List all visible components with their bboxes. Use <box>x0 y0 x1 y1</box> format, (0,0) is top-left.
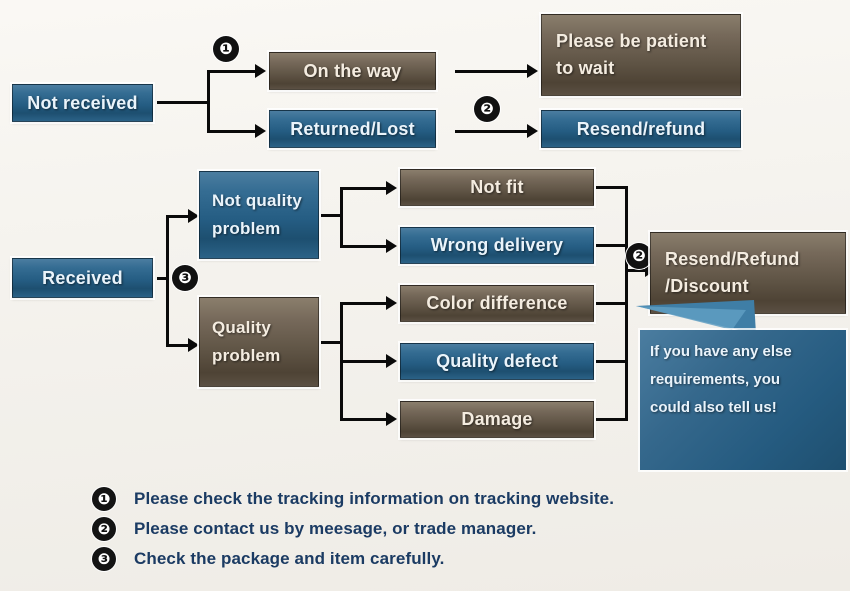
speech-bubble-note: If you have any else requirements, you c… <box>640 330 846 470</box>
connector-to-quality-defect <box>340 360 388 363</box>
node-not-quality-problem: Not quality problem <box>199 171 319 259</box>
arrowhead-resend <box>527 124 538 138</box>
connector-not-quality-split <box>340 187 343 248</box>
legend-number-3: ❸ <box>92 547 116 571</box>
speech-bubble-line1: If you have any else <box>650 338 838 366</box>
connector-returned-to-resend <box>455 130 530 133</box>
node-resend-refund-discount-line2: /Discount <box>665 277 749 296</box>
arrowhead-wrong-delivery <box>386 239 397 253</box>
connector-to-not-fit <box>340 187 388 190</box>
legend-text-3: Check the package and item carefully. <box>134 549 444 569</box>
flowchart-canvas: Not received ❶ On the way Returned/Lost … <box>0 0 850 591</box>
marker-2-top: ❷ <box>474 96 500 122</box>
merge-stub-quality-defect <box>596 360 628 363</box>
connector-to-damage <box>340 418 388 421</box>
node-not-received: Not received <box>12 84 153 122</box>
legend-text-2: Please contact us by meesage, or trade m… <box>134 519 537 539</box>
marker-3-received: ❸ <box>172 265 198 291</box>
node-not-received-label: Not received <box>27 94 137 113</box>
node-damage: Damage <box>400 401 594 438</box>
node-wrong-delivery: Wrong delivery <box>400 227 594 264</box>
legend-item: ❶ Please check the tracking information … <box>92 484 792 514</box>
node-please-be-patient-line2: to wait <box>556 59 614 78</box>
connector-on-the-way-to-patient <box>455 70 530 73</box>
connector-received-split <box>166 215 169 347</box>
legend-number-1: ❶ <box>92 487 116 511</box>
connector-not-received-stem <box>157 101 210 104</box>
arrowhead-damage <box>386 412 397 426</box>
arrowhead-not-fit <box>386 181 397 195</box>
node-not-quality-problem-line2: problem <box>212 220 280 238</box>
merge-stub-wrong-delivery <box>596 244 628 247</box>
node-quality-defect: Quality defect <box>400 343 594 380</box>
node-resend-refund-discount-line1: Resend/Refund <box>665 250 800 269</box>
node-on-the-way: On the way <box>269 52 436 90</box>
node-damage-label: Damage <box>461 410 532 429</box>
node-received: Received <box>12 258 153 298</box>
node-quality-defect-label: Quality defect <box>436 352 558 371</box>
node-color-difference-label: Color difference <box>426 294 567 313</box>
node-resend-refund-label: Resend/refund <box>577 120 706 139</box>
node-returned-lost: Returned/Lost <box>269 110 436 148</box>
node-quality-problem-line2: problem <box>212 347 280 365</box>
connector-to-quality <box>166 344 190 347</box>
node-not-fit-label: Not fit <box>470 178 523 197</box>
node-resend-refund: Resend/refund <box>541 110 741 148</box>
node-please-be-patient-line1: Please be patient <box>556 32 706 51</box>
connector-not-received-split <box>207 70 210 133</box>
node-not-quality-problem-line1: Not quality <box>212 192 302 210</box>
arrowhead-color-difference <box>386 296 397 310</box>
node-quality-problem-line1: Quality <box>212 319 271 337</box>
node-received-label: Received <box>42 269 123 288</box>
node-returned-lost-label: Returned/Lost <box>290 120 415 139</box>
speech-bubble-line2: requirements, you <box>650 366 838 394</box>
legend: ❶ Please check the tracking information … <box>92 484 792 574</box>
merge-stub-not-fit <box>596 186 628 189</box>
merge-stub-color-difference <box>596 302 628 305</box>
node-quality-problem: Quality problem <box>199 297 319 387</box>
legend-item: ❸ Check the package and item carefully. <box>92 544 792 574</box>
arrowhead-quality-defect <box>386 354 397 368</box>
legend-text-1: Please check the tracking information on… <box>134 489 614 509</box>
arrowhead-quality <box>188 338 199 352</box>
arrowhead-not-quality <box>188 209 199 223</box>
arrowhead-on-the-way <box>255 64 266 78</box>
marker-1-top: ❶ <box>213 36 239 62</box>
connector-to-wrong-delivery <box>340 245 388 248</box>
marker-2-right: ❷ <box>626 243 652 269</box>
merge-stub-damage <box>596 418 628 421</box>
merge-bus <box>625 186 628 421</box>
arrowhead-returned-lost <box>255 124 266 138</box>
connector-to-returned-lost <box>207 130 257 133</box>
connector-to-on-the-way <box>207 70 257 73</box>
node-please-be-patient: Please be patient to wait <box>541 14 741 96</box>
node-wrong-delivery-label: Wrong delivery <box>431 236 564 255</box>
arrowhead-patient <box>527 64 538 78</box>
speech-bubble-line3: could also tell us! <box>650 394 838 422</box>
node-on-the-way-label: On the way <box>303 62 401 81</box>
connector-to-color-difference <box>340 302 388 305</box>
legend-number-2: ❷ <box>92 517 116 541</box>
node-color-difference: Color difference <box>400 285 594 322</box>
connector-to-not-quality <box>166 215 190 218</box>
legend-item: ❷ Please contact us by meesage, or trade… <box>92 514 792 544</box>
node-not-fit: Not fit <box>400 169 594 206</box>
